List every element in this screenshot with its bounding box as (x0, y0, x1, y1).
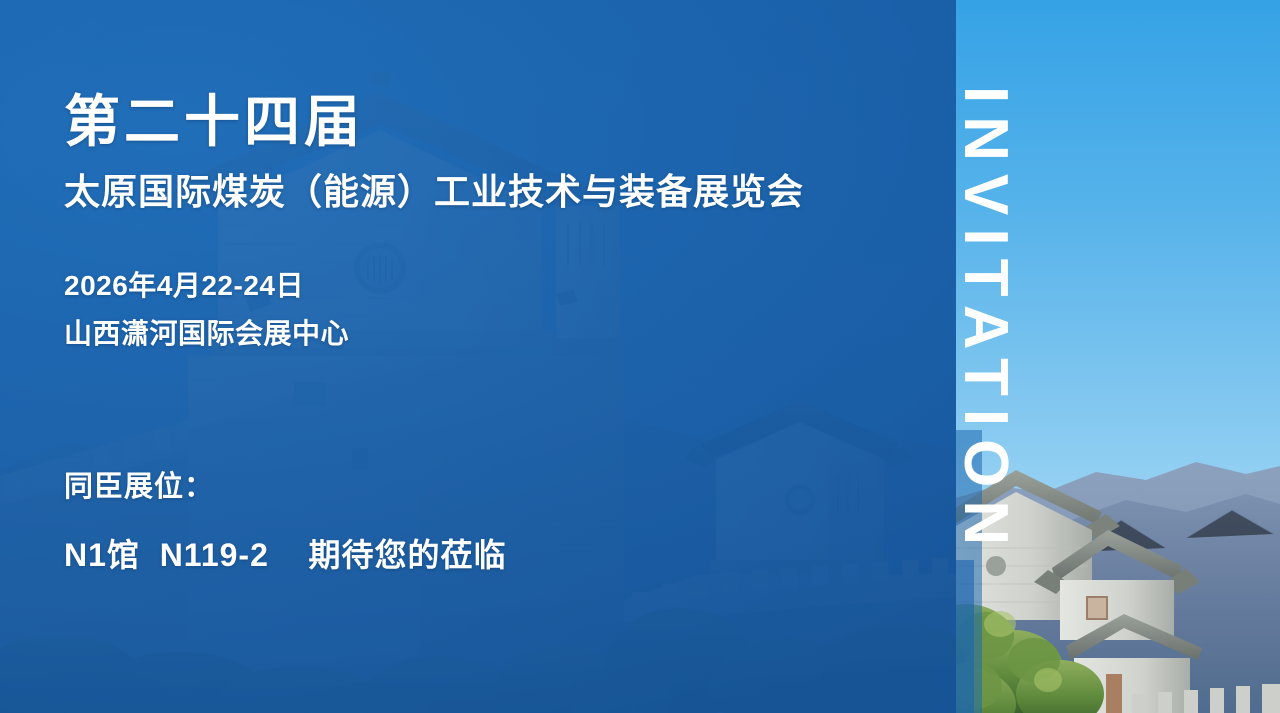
left-panel: 第二十四届 太原国际煤炭（能源）工业技术与装备展览会 2026年4月22-24日… (0, 0, 956, 713)
invitation-banner: 第二十四届 太原国际煤炭（能源）工业技术与装备展览会 2026年4月22-24日… (0, 0, 1280, 713)
booth-value: N1馆 N119-2 期待您的莅临 (64, 533, 944, 578)
right-background-photo (956, 0, 1280, 713)
right-panel: INVITATION 邀 请 函 (956, 0, 1280, 713)
booth-label: 同臣展位： (64, 467, 944, 508)
event-date: 2026年4月22-24日 (64, 266, 944, 307)
left-text-block: 第二十四届 太原国际煤炭（能源）工业技术与装备展览会 2026年4月22-24日… (64, 92, 944, 578)
edition-title: 第二十四届 (64, 92, 944, 152)
event-venue: 山西潇河国际会展中心 (64, 314, 944, 355)
expo-full-name: 太原国际煤炭（能源）工业技术与装备展览会 (64, 170, 944, 213)
